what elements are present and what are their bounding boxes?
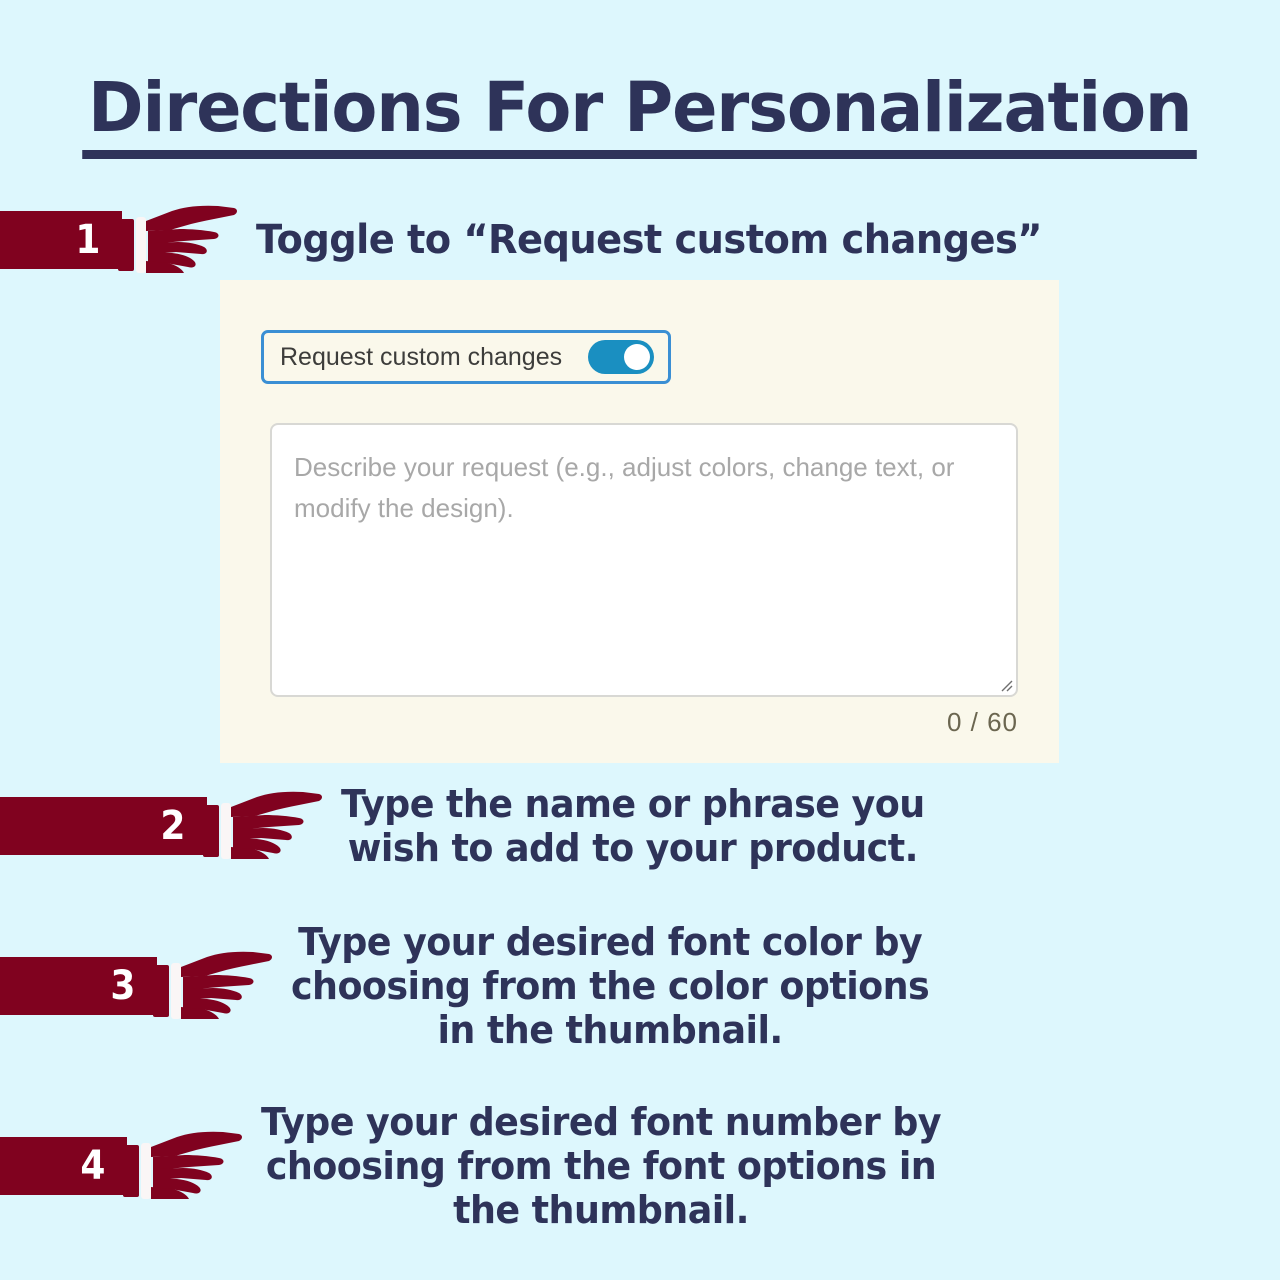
request-custom-changes-toggle-row[interactable]: Request custom changes	[261, 330, 671, 384]
step-text-2: Type the name or phrase you wish to add …	[341, 782, 925, 870]
step-row-1: 1 Toggle to “Request custom changes”	[0, 203, 1075, 277]
pointing-hand-icon	[123, 1129, 243, 1203]
request-textarea-placeholder: Describe your request (e.g., adjust colo…	[294, 447, 992, 529]
step-row-2: 2 Type the name or phrase you wish to ad…	[0, 782, 949, 870]
step-row-3: 3 Type your desired font color by choosi…	[0, 920, 956, 1052]
request-textarea[interactable]: Describe your request (e.g., adjust colo…	[270, 423, 1018, 697]
step-banner-3: 3	[0, 957, 155, 1015]
pointing-hand-icon	[203, 789, 323, 863]
step-banner-1: 1	[0, 211, 120, 269]
step-number-2: 2	[161, 806, 186, 846]
step-text-3: Type your desired font color by choosing…	[291, 920, 929, 1052]
toggle-switch[interactable]	[588, 340, 654, 374]
toggle-label: Request custom changes	[280, 343, 562, 372]
character-counter: 0 / 60	[947, 707, 1018, 738]
step-number-1: 1	[76, 220, 101, 260]
title-section: Directions For Personalization	[0, 0, 1280, 159]
step-banner-2: 2	[0, 797, 205, 855]
resize-grip-icon[interactable]	[997, 676, 1013, 692]
step-number-3: 3	[111, 966, 136, 1006]
step-text-1: Toggle to “Request custom changes”	[256, 217, 1042, 263]
step-row-4: 4 Type your desired font number by choos…	[0, 1100, 969, 1232]
screenshot-panel: Request custom changes Describe your req…	[220, 280, 1059, 763]
step-text-4: Type your desired font number by choosin…	[261, 1100, 941, 1232]
pointing-hand-icon	[153, 949, 273, 1023]
pointing-hand-icon	[118, 203, 238, 277]
toggle-knob	[624, 344, 650, 370]
step-number-4: 4	[81, 1146, 106, 1186]
step-banner-4: 4	[0, 1137, 125, 1195]
page-title: Directions For Personalization	[83, 72, 1198, 159]
